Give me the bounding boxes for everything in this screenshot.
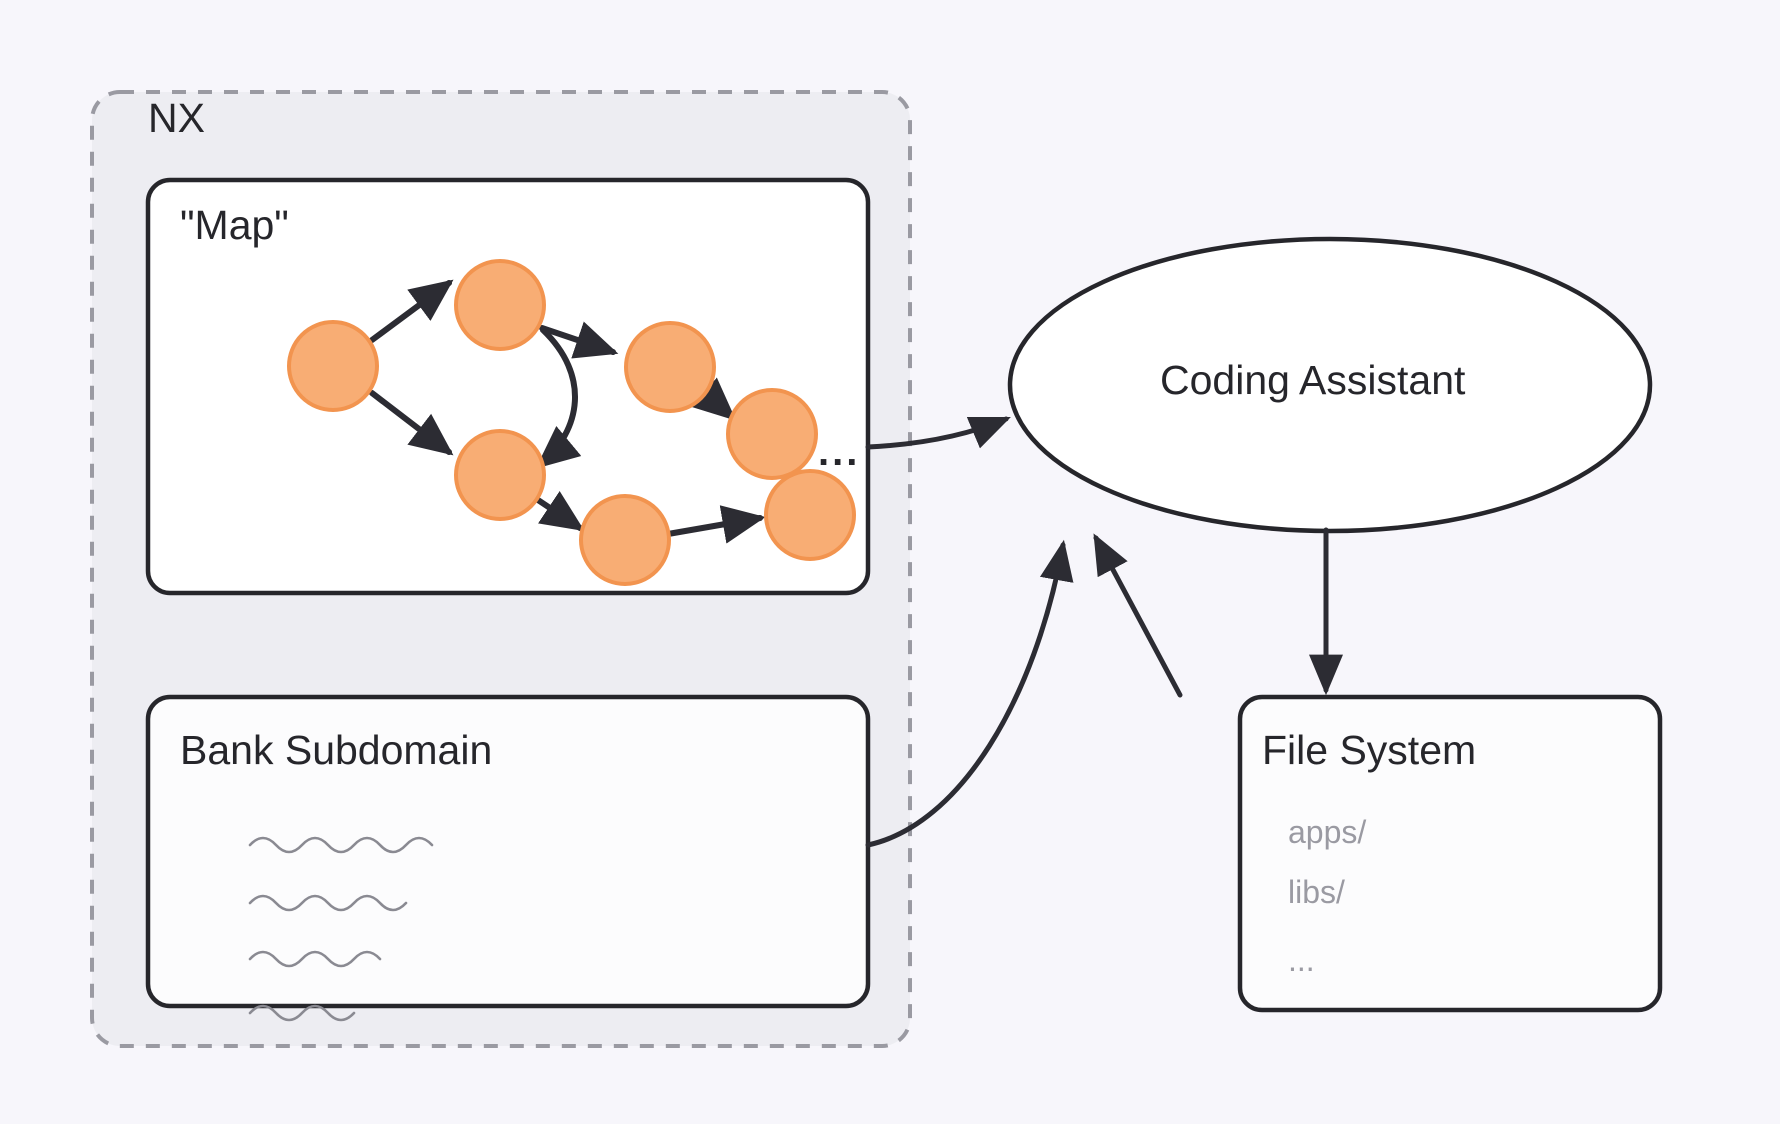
graph-node <box>289 322 377 410</box>
map-box-label: "Map" <box>180 205 289 246</box>
graph-node <box>456 261 544 349</box>
map-ellipsis-indicator: ... <box>818 432 860 472</box>
graph-node <box>728 390 816 478</box>
bank-subdomain-label: Bank Subdomain <box>180 730 492 771</box>
nx-container-label: NX <box>148 98 205 139</box>
diagram-vector-layer <box>0 0 1780 1124</box>
graph-node <box>766 471 854 559</box>
diagram-canvas: NX "Map" ... Bank Subdomain Coding Assis… <box>0 0 1780 1124</box>
file-system-label: File System <box>1262 730 1476 771</box>
coding-assistant-label: Coding Assistant <box>1160 360 1465 401</box>
file-system-item-more: ... <box>1288 944 1315 976</box>
graph-node <box>626 323 714 411</box>
connector-filesystem-to-assistant <box>1096 538 1180 695</box>
graph-node <box>581 496 669 584</box>
graph-node <box>456 431 544 519</box>
file-system-item-libs: libs/ <box>1288 876 1345 908</box>
file-system-item-apps: apps/ <box>1288 816 1366 848</box>
